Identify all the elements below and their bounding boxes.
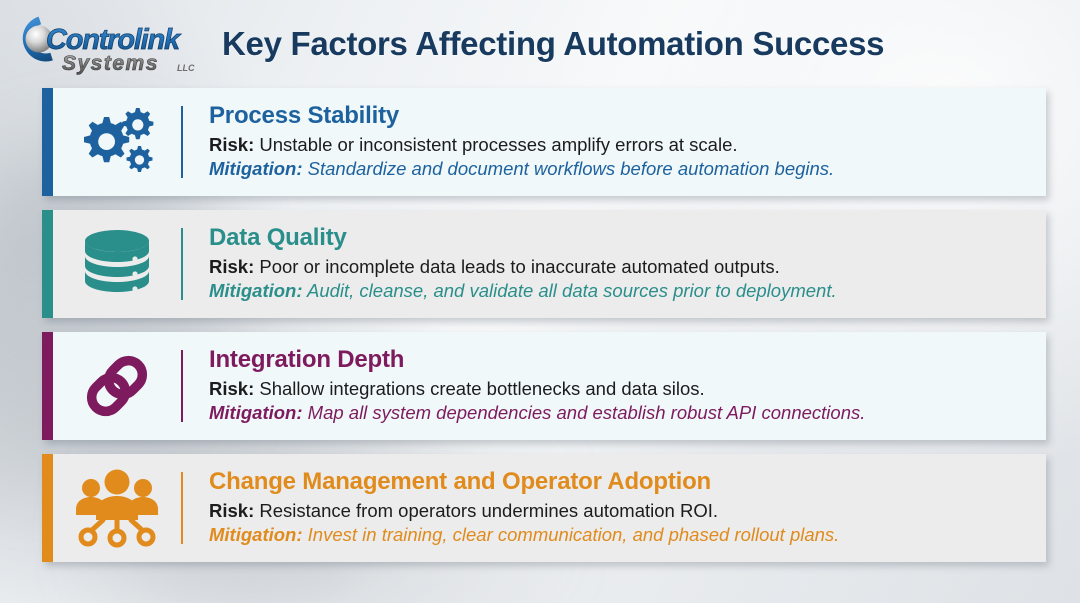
svg-text:Systems: Systems xyxy=(62,52,159,75)
risk-label: Risk: xyxy=(209,500,254,521)
mitigation-line: Mitigation: Audit, cleanse, and validate… xyxy=(209,279,1030,303)
gears-icon xyxy=(53,105,181,179)
risk-label: Risk: xyxy=(209,256,254,277)
accent-bar xyxy=(42,454,53,562)
slide-header: Controlink Systems LLC Key Factors Affec… xyxy=(0,0,1080,88)
mitigation-label: Mitigation: xyxy=(209,158,303,179)
page-title: Key Factors Affecting Automation Success xyxy=(222,25,884,63)
mitigation-line: Mitigation: Map all system dependencies … xyxy=(209,401,1030,425)
risk-label: Risk: xyxy=(209,378,254,399)
factor-text-block: Integration Depth Risk: Shallow integrat… xyxy=(183,347,1046,426)
factor-card-process-stability[interactable]: Process Stability Risk: Unstable or inco… xyxy=(42,88,1046,196)
factor-title: Data Quality xyxy=(209,225,1030,252)
risk-label: Risk: xyxy=(209,134,254,155)
mitigation-label: Mitigation: xyxy=(209,524,303,545)
risk-text: Shallow integrations create bottlenecks … xyxy=(259,378,704,399)
factor-title: Integration Depth xyxy=(209,347,1030,374)
accent-bar xyxy=(42,210,53,318)
mitigation-label: Mitigation: xyxy=(209,402,303,423)
mitigation-text: Map all system dependencies and establis… xyxy=(308,402,866,423)
factor-card-change-management[interactable]: Change Management and Operator Adoption … xyxy=(42,454,1046,562)
factor-text-block: Change Management and Operator Adoption … xyxy=(183,469,1046,548)
factor-title: Change Management and Operator Adoption xyxy=(209,469,1030,496)
risk-text: Resistance from operators undermines aut… xyxy=(259,500,718,521)
factor-title: Process Stability xyxy=(209,103,1030,130)
risk-line: Risk: Shallow integrations create bottle… xyxy=(209,377,1030,401)
accent-bar xyxy=(42,332,53,440)
risk-line: Risk: Unstable or inconsistent processes… xyxy=(209,133,1030,157)
risk-line: Risk: Poor or incomplete data leads to i… xyxy=(209,255,1030,279)
mitigation-label: Mitigation: xyxy=(209,280,303,301)
mitigation-text: Standardize and document workflows befor… xyxy=(308,158,835,179)
chain-link-icon xyxy=(53,346,181,426)
risk-line: Risk: Resistance from operators undermin… xyxy=(209,499,1030,523)
accent-bar xyxy=(42,88,53,196)
factor-text-block: Process Stability Risk: Unstable or inco… xyxy=(183,103,1046,182)
controlink-systems-logo: Controlink Systems LLC xyxy=(14,11,204,77)
mitigation-text: Audit, cleanse, and validate all data so… xyxy=(307,280,837,301)
factor-card-integration-depth[interactable]: Integration Depth Risk: Shallow integrat… xyxy=(42,332,1046,440)
factor-card-list: Process Stability Risk: Unstable or inco… xyxy=(42,88,1046,562)
risk-text: Unstable or inconsistent processes ampli… xyxy=(259,134,737,155)
slide-canvas: Controlink Systems LLC Key Factors Affec… xyxy=(0,0,1080,603)
risk-text: Poor or incomplete data leads to inaccur… xyxy=(259,256,779,277)
factor-text-block: Data Quality Risk: Poor or incomplete da… xyxy=(183,225,1046,304)
mitigation-line: Mitigation: Invest in training, clear co… xyxy=(209,523,1030,547)
svg-text:LLC: LLC xyxy=(177,63,195,73)
team-network-icon xyxy=(53,467,181,549)
mitigation-text: Invest in training, clear communication,… xyxy=(308,524,840,545)
database-icon xyxy=(53,225,181,303)
factor-card-data-quality[interactable]: Data Quality Risk: Poor or incomplete da… xyxy=(42,210,1046,318)
mitigation-line: Mitigation: Standardize and document wor… xyxy=(209,157,1030,181)
